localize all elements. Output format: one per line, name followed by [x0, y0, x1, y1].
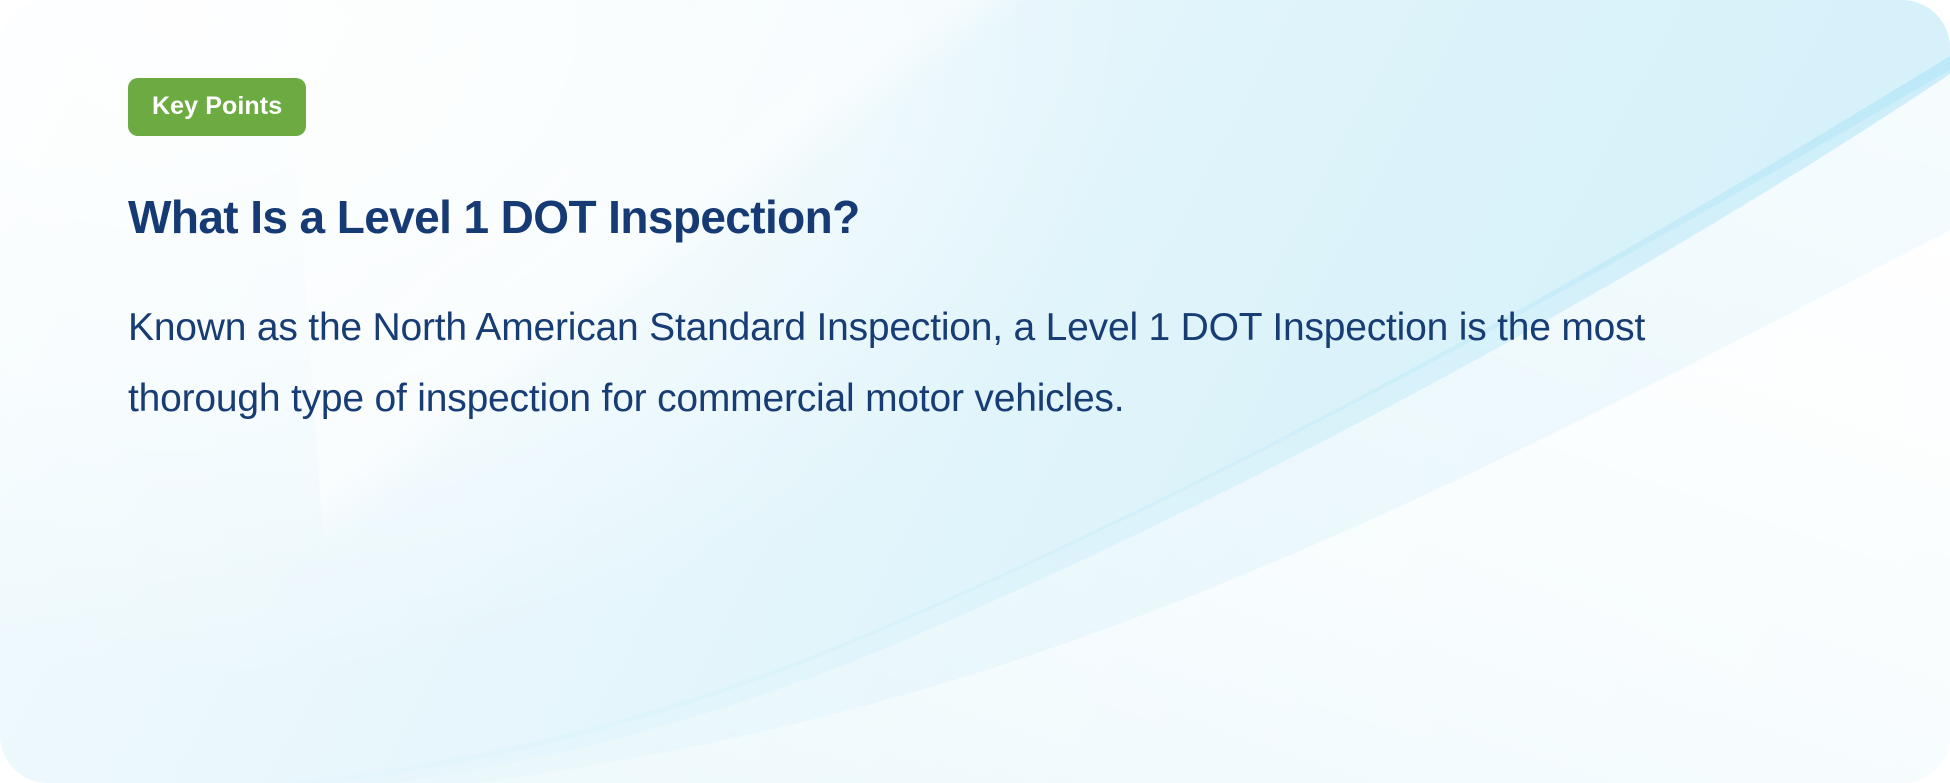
- key-points-card: Key Points What Is a Level 1 DOT Inspect…: [0, 0, 1950, 783]
- card-content: Key Points What Is a Level 1 DOT Inspect…: [128, 78, 1850, 435]
- body-paragraph: Known as the North American Standard Ins…: [128, 293, 1808, 435]
- key-points-badge: Key Points: [128, 78, 306, 136]
- page-title: What Is a Level 1 DOT Inspection?: [128, 190, 1850, 245]
